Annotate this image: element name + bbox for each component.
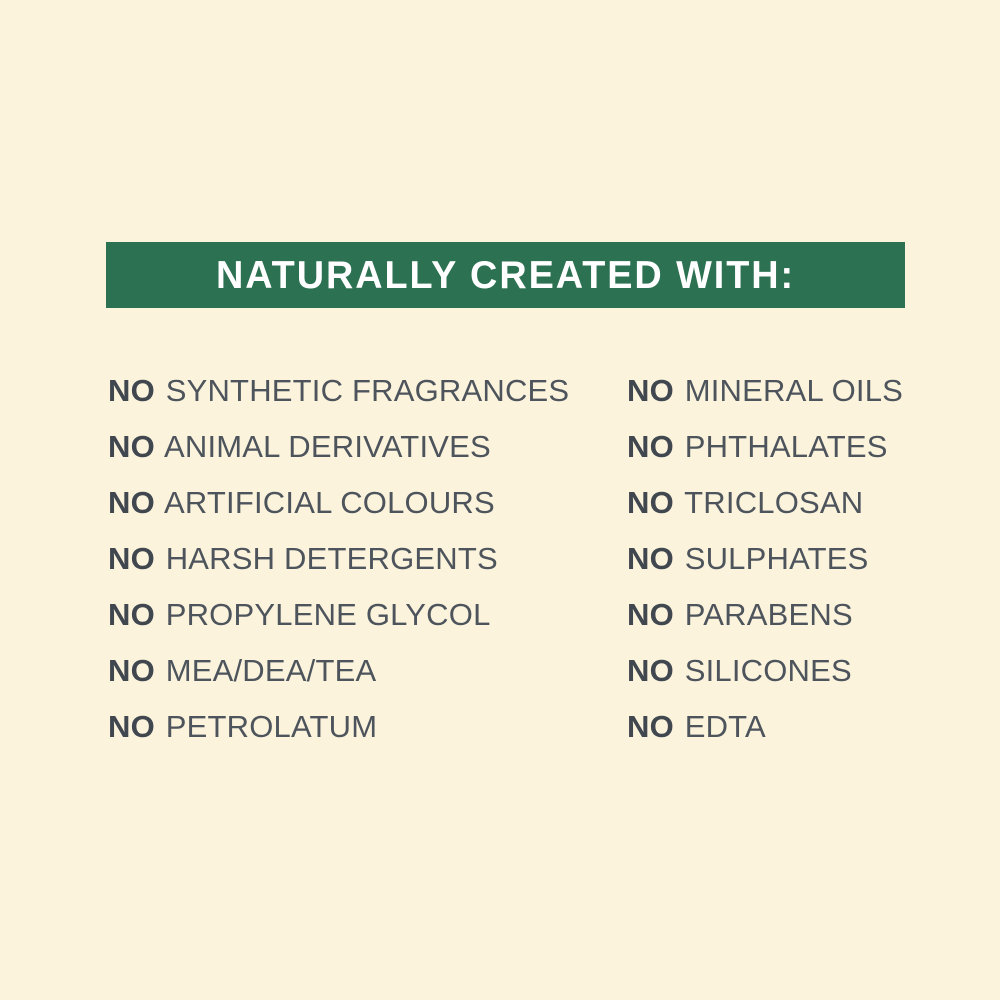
list-item-prefix: NO [108,485,155,520]
banner-naturally-created-with: NATURALLY CREATED WITH: [106,242,905,308]
list-item-prefix: NO [627,541,674,576]
list-item-label: SILICONES [676,653,852,688]
list-item: NO SULPHATES [627,537,903,593]
list-item-label: PHTHALATES [676,429,888,464]
list-item-label: PARABENS [676,597,853,632]
list-item: NO MINERAL OILS [627,369,903,425]
list-item: NO PROPYLENE GLYCOL [108,593,569,649]
list-item-label: TRICLOSAN [676,485,863,520]
list-item-prefix: NO [627,485,674,520]
list-item-label: SYNTHETIC FRAGRANCES [157,373,569,408]
banner-title: NATURALLY CREATED WITH: [216,256,795,295]
list-item-prefix: NO [627,373,674,408]
list-item-label: HARSH DETERGENTS [157,541,498,576]
list-item: NO PETROLATUM [108,705,569,761]
list-item-label: MINERAL OILS [676,373,903,408]
list-item-label: PROPYLENE GLYCOL [157,597,491,632]
list-left: NO SYNTHETIC FRAGRANCESNO ANIMAL DERIVAT… [108,369,569,761]
list-item: NO ANIMAL DERIVATIVES [108,425,569,481]
list-item-label: PETROLATUM [157,709,377,744]
list-item-prefix: NO [627,709,674,744]
list-item-prefix: NO [108,429,155,464]
list-item-label: MEA/DEA/TEA [157,653,376,688]
list-item: NO PARABENS [627,593,903,649]
ingredient-exclusion-columns: NO SYNTHETIC FRAGRANCESNO ANIMAL DERIVAT… [0,369,1000,789]
list-item-prefix: NO [627,653,674,688]
list-right: NO MINERAL OILSNO PHTHALATESNO TRICLOSAN… [627,369,903,761]
list-item-prefix: NO [108,373,155,408]
list-item: NO TRICLOSAN [627,481,903,537]
list-item: NO MEA/DEA/TEA [108,649,569,705]
list-item-prefix: NO [108,653,155,688]
list-item-label: ARTIFICIAL COLOURS [157,485,495,520]
list-item-prefix: NO [108,597,155,632]
list-item-prefix: NO [108,541,155,576]
list-item: NO EDTA [627,705,903,761]
column-right: NO MINERAL OILSNO PHTHALATESNO TRICLOSAN… [627,369,903,761]
poster-root: NATURALLY CREATED WITH: NO SYNTHETIC FRA… [0,0,1000,1000]
list-item-prefix: NO [627,429,674,464]
list-item: NO ARTIFICIAL COLOURS [108,481,569,537]
list-item: NO HARSH DETERGENTS [108,537,569,593]
list-item-prefix: NO [108,709,155,744]
list-item: NO SILICONES [627,649,903,705]
list-item-prefix: NO [627,597,674,632]
list-item-label: SULPHATES [676,541,869,576]
list-item-label: ANIMAL DERIVATIVES [157,429,491,464]
list-item: NO PHTHALATES [627,425,903,481]
list-item: NO SYNTHETIC FRAGRANCES [108,369,569,425]
column-left: NO SYNTHETIC FRAGRANCESNO ANIMAL DERIVAT… [108,369,569,761]
list-item-label: EDTA [676,709,766,744]
